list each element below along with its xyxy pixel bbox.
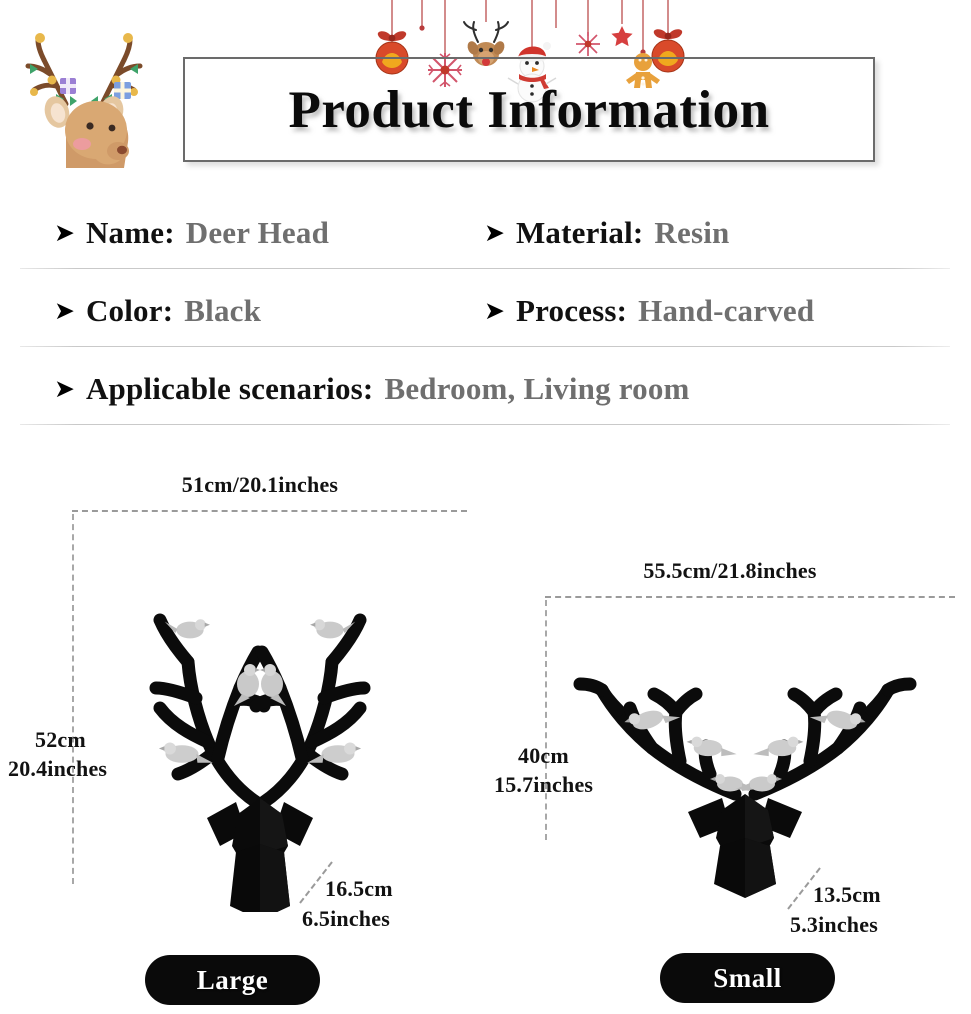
divider — [20, 346, 950, 347]
spec-label: Material: — [516, 215, 643, 251]
spec-label: Applicable scenarios: — [86, 371, 374, 407]
spec-value: Bedroom, Living room — [384, 371, 689, 407]
spec-item-material: ➤ Material: Resin — [484, 215, 729, 251]
spec-value: Resin — [654, 215, 729, 251]
spec-item-applicable-scenarios: ➤ Applicable scenarios: Bedroom, Living … — [54, 371, 690, 407]
spec-value: Deer Head — [186, 215, 329, 251]
arrow-right-triangle-icon: ➤ — [54, 221, 75, 246]
spec-item-name: ➤ Name: Deer Head — [54, 215, 329, 251]
product-variant-large: 51cm/20.1inches 52cm 20.4inches 16.5cm 6… — [0, 462, 490, 1014]
arrow-right-triangle-icon: ➤ — [54, 299, 75, 324]
arrow-right-triangle-icon: ➤ — [54, 377, 75, 402]
spec-label: Color: — [86, 293, 173, 329]
size-badge-label: Small — [713, 963, 782, 994]
product-information-page: Product Information ➤ Name: Deer Head ➤ … — [0, 0, 971, 1014]
spec-item-process: ➤ Process: Hand-carved — [484, 293, 814, 329]
divider — [20, 424, 950, 425]
size-badge-label: Large — [197, 965, 268, 996]
spec-row: ➤ Applicable scenarios: Bedroom, Living … — [0, 352, 971, 430]
spec-row: ➤ Color: Black ➤ Process: Hand-carved — [0, 276, 971, 352]
spec-value: Black — [184, 293, 261, 329]
specification-table: ➤ Name: Deer Head ➤ Material: Resin ➤ Co… — [0, 200, 971, 430]
product-variant-small: 55.5cm/21.8inches 40cm 15.7inches 13.5cm… — [490, 540, 971, 1014]
arrow-right-triangle-icon: ➤ — [484, 299, 505, 324]
spec-row: ➤ Name: Deer Head ➤ Material: Resin — [0, 200, 971, 276]
large-width-dimension: 51cm/20.1inches — [95, 472, 425, 498]
deer-head-wall-sculpture-small-icon — [530, 598, 960, 898]
divider — [20, 268, 950, 269]
small-depth-in: 5.3inches — [790, 912, 878, 938]
red-star-ornament-icon — [611, 26, 632, 46]
christmas-reindeer-mascot-icon — [4, 8, 164, 173]
size-badge-large[interactable]: Large — [145, 955, 320, 1005]
arrow-right-triangle-icon: ➤ — [484, 221, 505, 246]
deer-head-wall-sculpture-large-icon — [60, 502, 460, 912]
spec-label: Name: — [86, 215, 175, 251]
page-title: Product Information — [183, 60, 875, 160]
spec-value: Hand-carved — [638, 293, 814, 329]
spec-item-color: ➤ Color: Black — [54, 293, 261, 329]
spec-label: Process: — [516, 293, 627, 329]
size-badge-small[interactable]: Small — [660, 953, 835, 1003]
red-snowflake-small-ornament-icon — [576, 32, 600, 56]
small-width-dimension: 55.5cm/21.8inches — [565, 558, 895, 584]
